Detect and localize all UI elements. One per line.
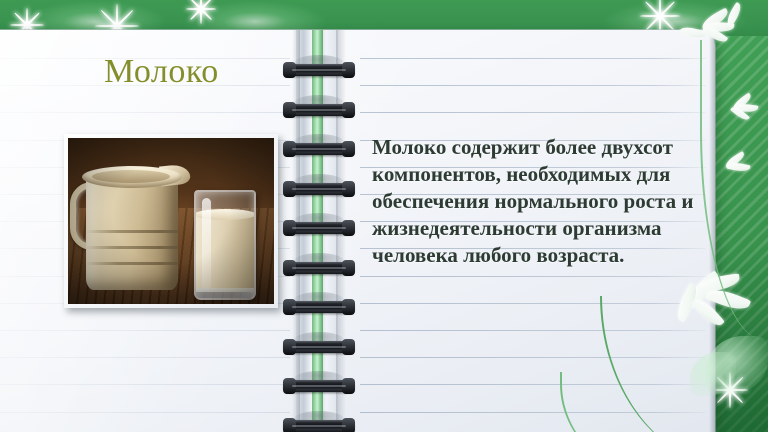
ruled-line [360,58,706,59]
milk-photo [64,134,278,308]
spiral-ring-icon [284,418,354,432]
plant-stem-secondary [560,372,712,432]
spiral-ring-icon [284,62,354,79]
ruled-line [0,112,290,113]
ruled-line [360,276,706,277]
spiral-ring-icon [284,181,354,198]
ruled-line [360,85,706,86]
spiral-ring-icon [284,299,354,316]
ruled-line [0,412,290,413]
ruled-line [0,357,290,358]
ruled-line [0,384,290,385]
spiral-ring-icon [284,339,354,356]
spiral-ring-icon [284,220,354,237]
slide-canvas: Молоко Молоко содержит более двух [0,0,768,432]
spiral-ring-icon [284,102,354,119]
milk-photo-image [68,138,274,304]
ruled-line [360,112,706,113]
body-text: Молоко содержит более двухсот компоненто… [372,134,702,269]
spiral-ring-icon [284,260,354,277]
spiral-ring-icon [284,378,354,395]
page-title: Молоко [104,52,219,92]
photo-vignette [68,138,274,304]
ruled-line [0,330,290,331]
spiral-ring-icon [284,141,354,158]
